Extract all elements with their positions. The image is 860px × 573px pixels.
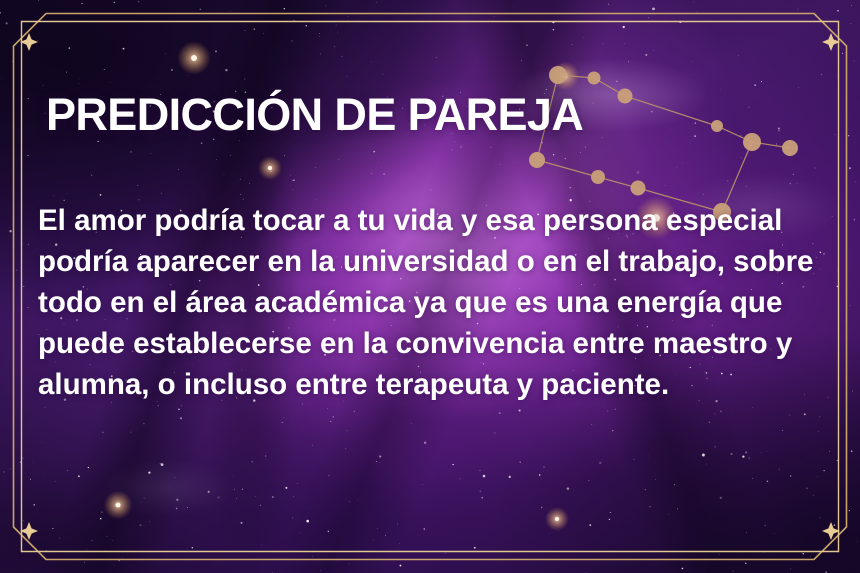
card-content: PREDICCIÓN DE PAREJA El amor podría toca…: [0, 0, 860, 573]
prediction-card: PREDICCIÓN DE PAREJA El amor podría toca…: [0, 0, 860, 573]
prediction-body-text: El amor podría tocar a tu vida y esa per…: [38, 200, 838, 405]
page-title: PREDICCIÓN DE PAREJA: [46, 92, 583, 137]
